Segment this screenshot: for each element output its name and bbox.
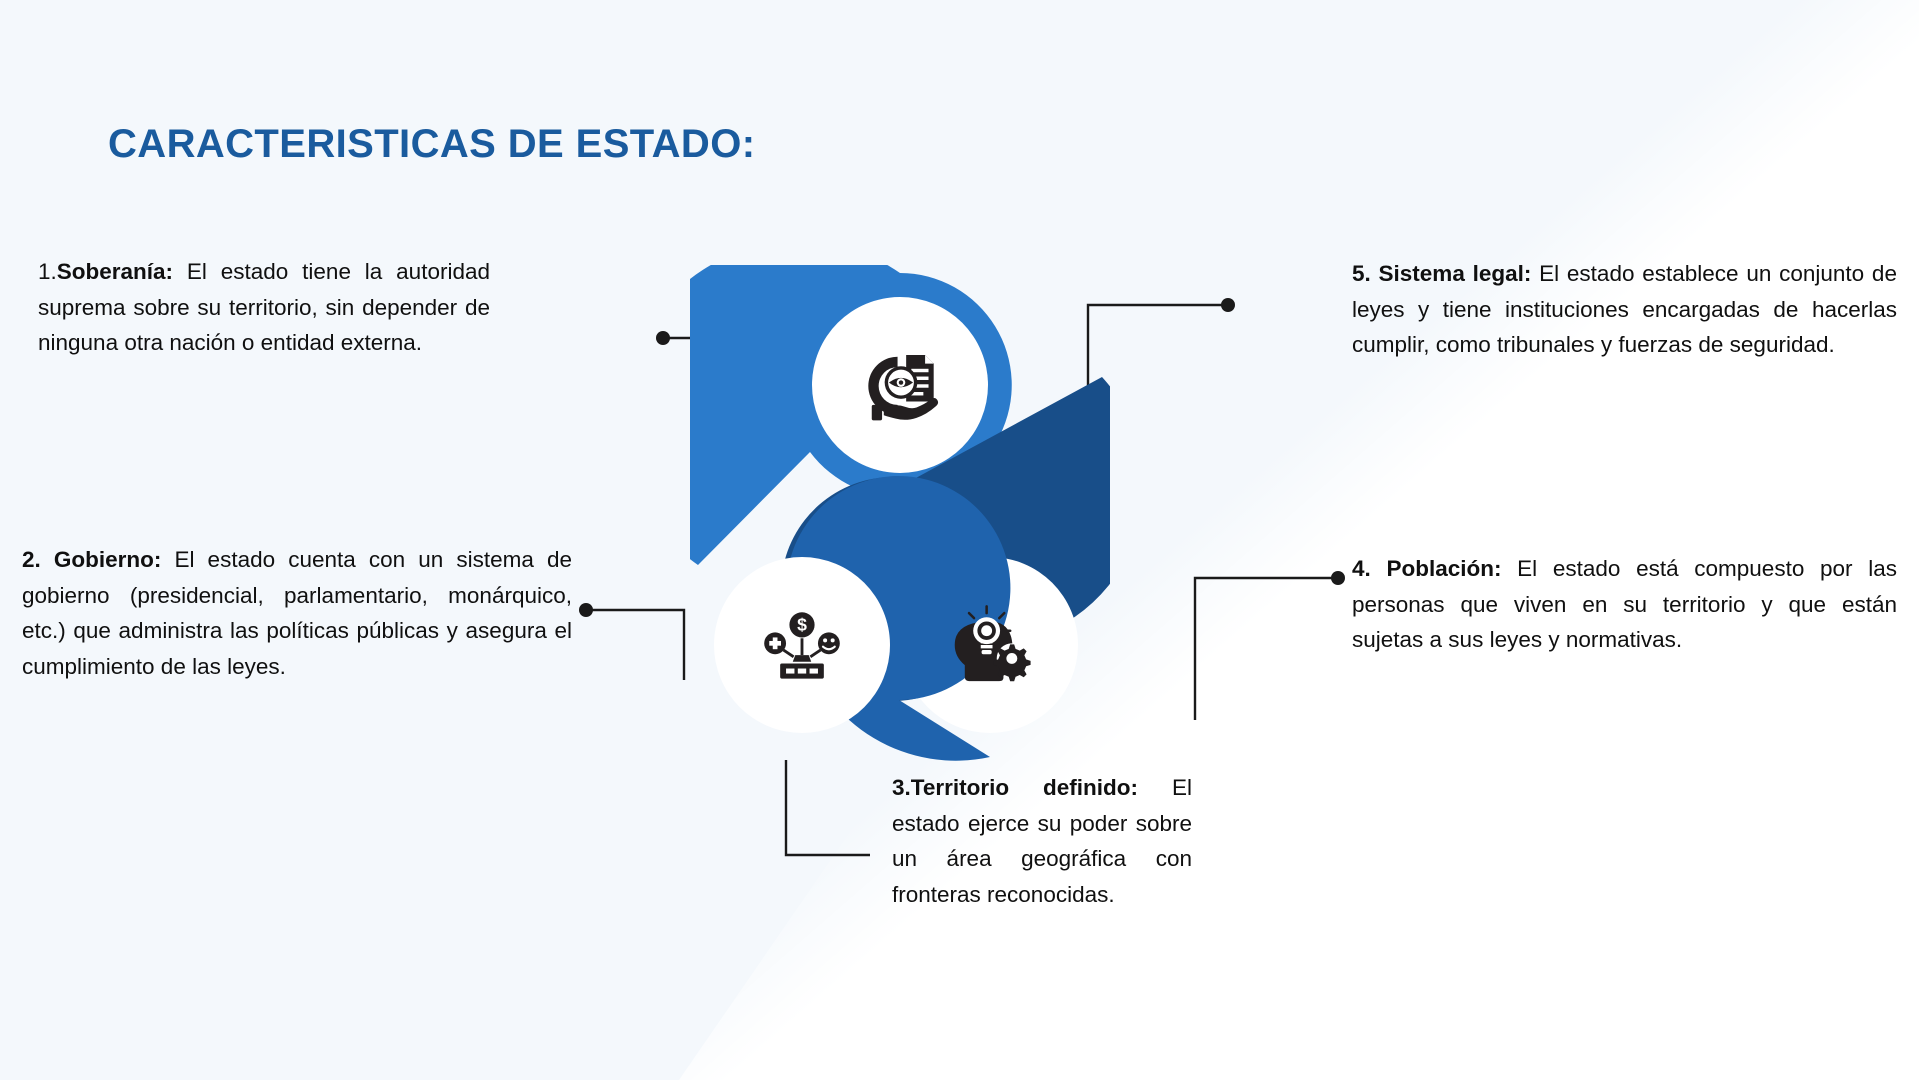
item-1-text: 1.Soberanía: El estado tiene la autorida…: [38, 254, 490, 361]
item-4-text: 4. Población: El estado está compuesto p…: [1352, 551, 1897, 658]
head-lightbulb-gear-icon: [948, 603, 1032, 687]
item-5-text: 5. Sistema legal: El estado establece un…: [1352, 256, 1897, 363]
item-3-term: Territorio definido:: [911, 775, 1138, 800]
item-2-number: 2.: [22, 547, 41, 572]
item-2-term: Gobierno:: [54, 547, 162, 572]
item-5-term: Sistema legal:: [1379, 261, 1532, 286]
item-1-number: 1.: [38, 259, 57, 284]
item-4-term: Población:: [1386, 556, 1501, 581]
three-petal-diagram: $: [690, 265, 1110, 765]
item-2-text: 2. Gobierno: El estado cuenta con un sis…: [22, 542, 572, 684]
item-3-number: 3.: [892, 775, 911, 800]
item-3-text: 3.Territorio definido: El estado ejerce …: [892, 770, 1192, 912]
item-4-number: 4.: [1352, 556, 1371, 581]
government-welfare-icon: $: [760, 603, 844, 687]
infographic-slide: CARACTERISTICAS DE ESTADO:: [0, 0, 1919, 1080]
item-1-term: Soberanía:: [57, 259, 173, 284]
page-title: CARACTERISTICAS DE ESTADO:: [108, 122, 755, 167]
svg-text:$: $: [797, 615, 807, 635]
hand-document-eye-icon: [858, 343, 944, 429]
item-5-number: 5.: [1352, 261, 1371, 286]
